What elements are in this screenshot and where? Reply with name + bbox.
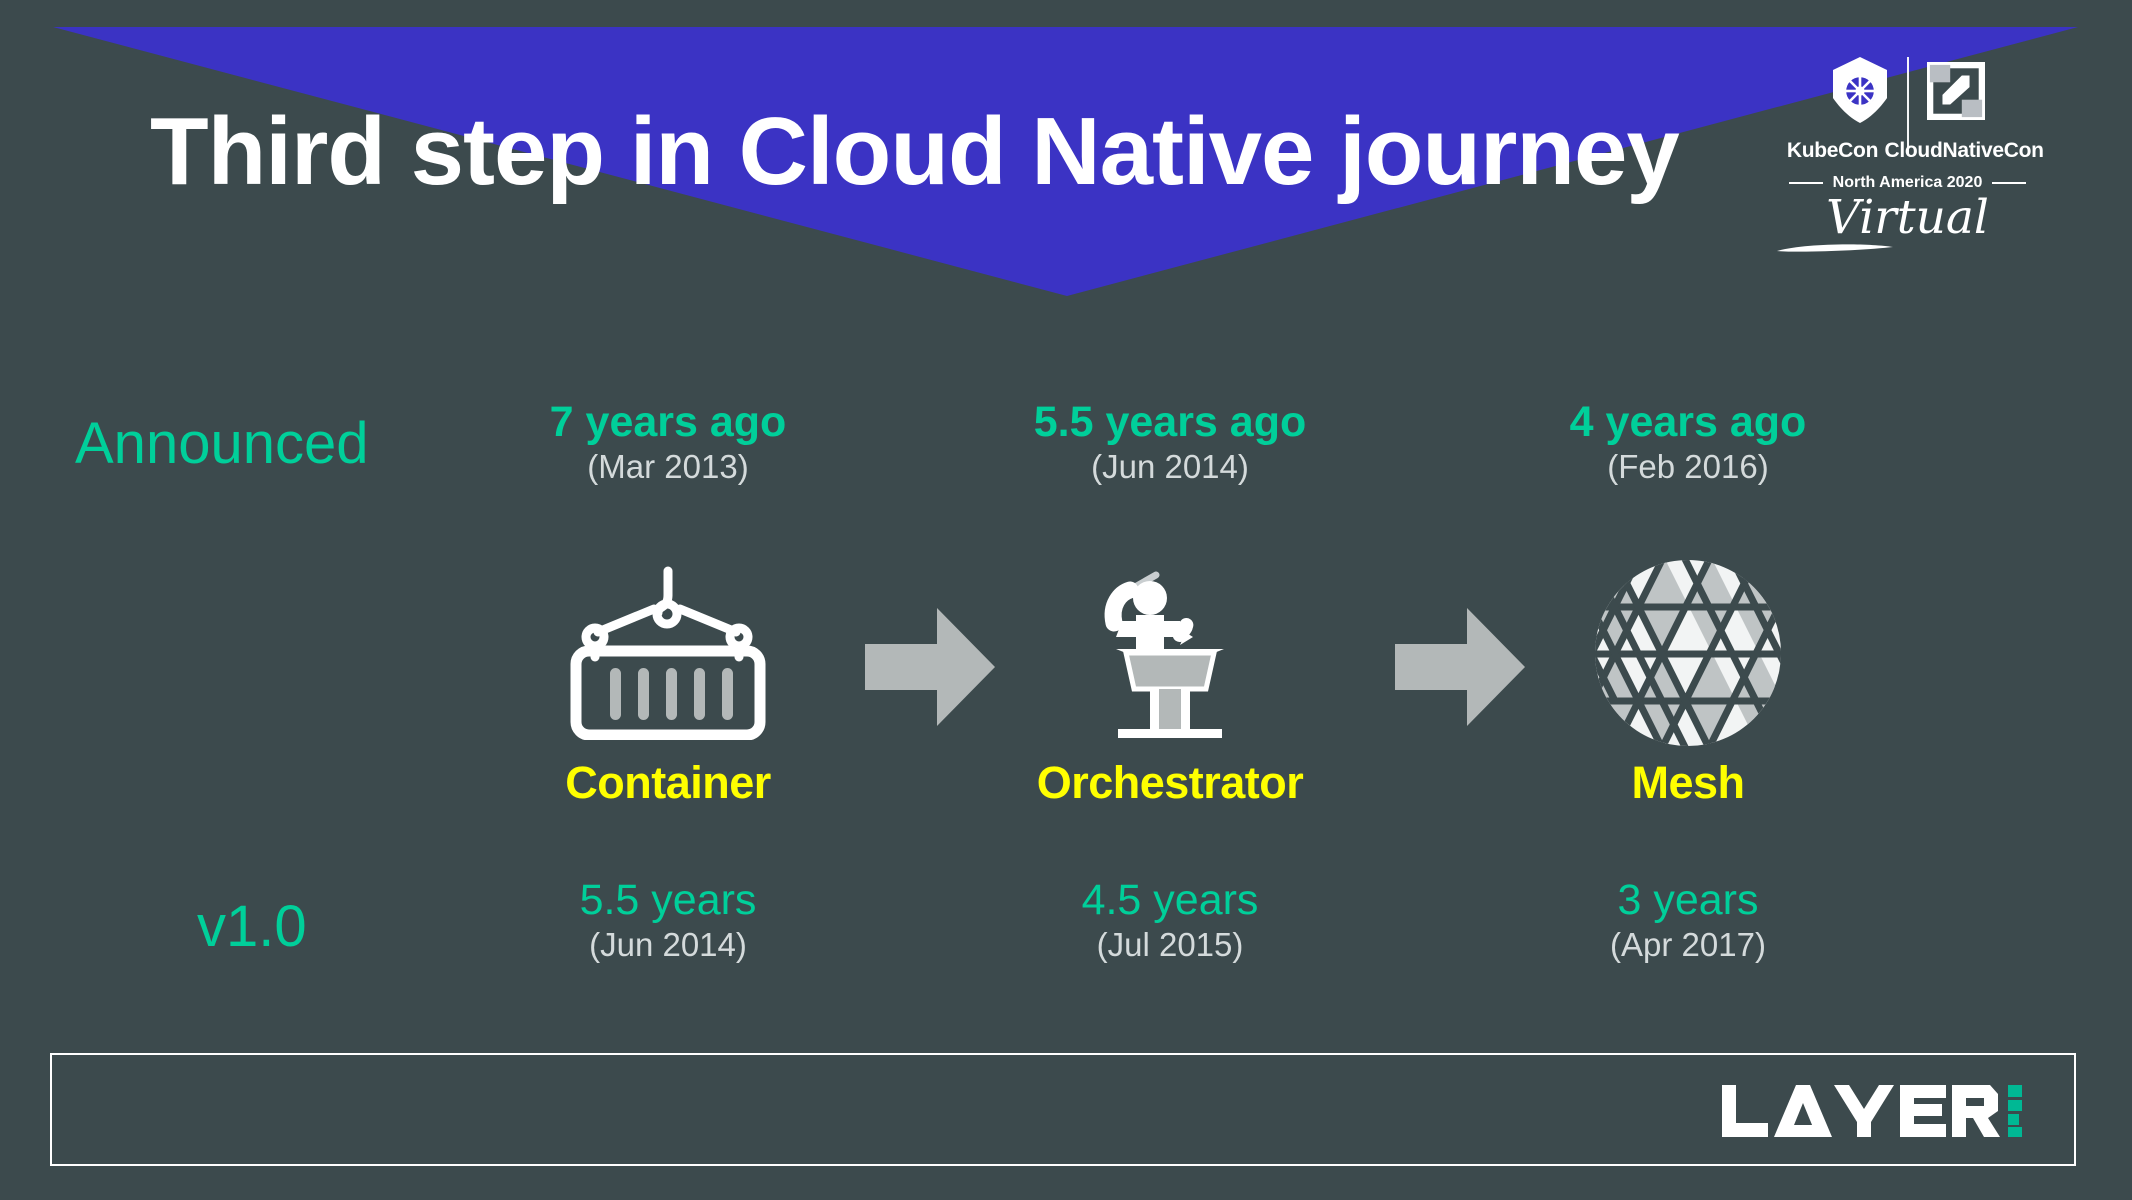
slide-canvas: Third step in Cloud Native journey	[0, 0, 2132, 1200]
v1-date: (Apr 2017)	[1478, 923, 1898, 968]
tech-cell-orchestrator: Orchestrator	[960, 565, 1380, 805]
kubernetes-helm-icon	[1827, 55, 1893, 127]
tech-name: Mesh	[1478, 760, 1898, 805]
row-label-v1: v1.0	[197, 898, 307, 956]
tech-cell-mesh: Mesh	[1478, 565, 1898, 805]
v1-cell-container: 5.5 years (Jun 2014)	[458, 878, 878, 968]
announced-date: (Jun 2014)	[960, 445, 1380, 490]
announced-date: (Mar 2013)	[458, 445, 878, 490]
v1-date: (Jul 2015)	[960, 923, 1380, 968]
v1-date: (Jun 2014)	[458, 923, 878, 968]
cloudnativecon-square-icon	[1923, 55, 1989, 127]
region-rule-right	[1992, 182, 2026, 184]
layer5-logo	[1722, 1085, 2022, 1137]
virtual-label: Virtual	[1775, 194, 2040, 241]
announced-cell-mesh: 4 years ago (Feb 2016)	[1478, 400, 1898, 490]
v1-years: 4.5 years	[960, 878, 1380, 923]
service-mesh-circle-icon	[1478, 565, 1898, 740]
row-label-announced: Announced	[75, 415, 368, 473]
footer-bar	[50, 1053, 2076, 1166]
v1-years: 3 years	[1478, 878, 1898, 923]
conductor-podium-icon	[960, 565, 1380, 740]
logo-divider	[1907, 57, 1909, 155]
tech-name: Container	[458, 760, 878, 805]
v1-cell-mesh: 3 years (Apr 2017)	[1478, 878, 1898, 968]
announced-cell-container: 7 years ago (Mar 2013)	[458, 400, 878, 490]
page-title: Third step in Cloud Native journey	[150, 104, 1679, 200]
shipping-container-icon	[458, 565, 878, 740]
virtual-underline-swoosh	[1775, 242, 1895, 254]
v1-cell-orchestrator: 4.5 years (Jul 2015)	[960, 878, 1380, 968]
announced-years: 4 years ago	[1478, 400, 1898, 445]
announced-cell-orchestrator: 5.5 years ago (Jun 2014)	[960, 400, 1380, 490]
kubecon-cloudnativecon-logo: KubeCon CloudNativeCon North America 202…	[1775, 55, 2040, 245]
announced-years: 7 years ago	[458, 400, 878, 445]
tech-name: Orchestrator	[960, 760, 1380, 805]
announced-date: (Feb 2016)	[1478, 445, 1898, 490]
region-rule-left	[1789, 182, 1823, 184]
v1-years: 5.5 years	[458, 878, 878, 923]
announced-years: 5.5 years ago	[960, 400, 1380, 445]
tech-cell-container: Container	[458, 565, 878, 805]
kubecon-label: KubeCon	[1781, 139, 1885, 163]
